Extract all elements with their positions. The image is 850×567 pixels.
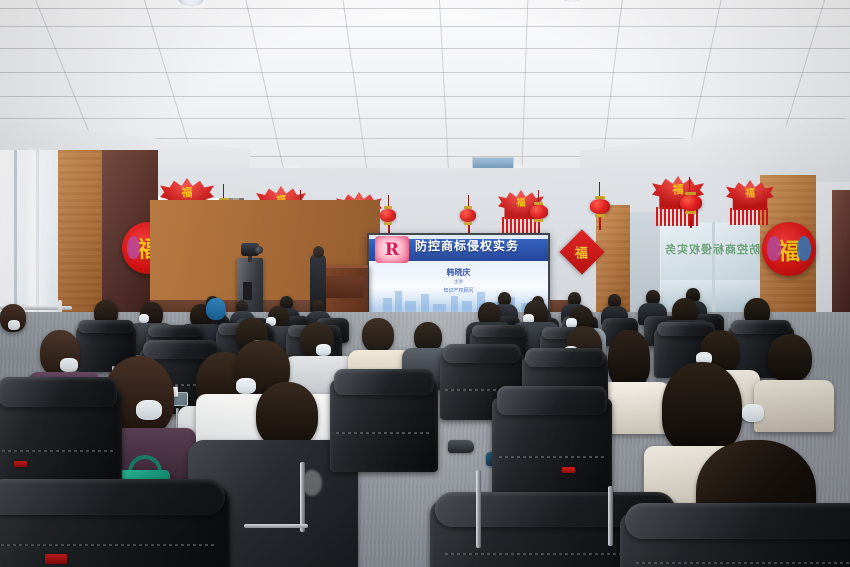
presenter-head — [313, 246, 324, 258]
jacket-logo — [302, 470, 322, 496]
attendee-head-front — [256, 382, 318, 448]
attendee-head — [362, 318, 394, 352]
fu-glyph: 福 — [673, 181, 684, 197]
face-mask — [236, 378, 256, 394]
projection-screen: R 防控商标侵权实务 韩晓庆 主讲 知识产权顾问 — [367, 233, 550, 323]
face-mask — [742, 404, 764, 422]
conference-room-photo: 防控商标侵权实务 福 福 福 福 福 福 — [0, 0, 850, 567]
attendee-head — [768, 334, 812, 382]
shoe — [448, 440, 474, 453]
chair-foreground — [492, 398, 612, 502]
fu-glyph: 福 — [745, 185, 755, 200]
glass-mullion — [712, 222, 715, 322]
slide-title: 防控商标侵权实务 — [415, 235, 546, 257]
attendee-head-ponytail — [608, 330, 650, 388]
lectern-front-panel — [326, 276, 364, 298]
chair-foreground-bottom-left — [0, 486, 230, 567]
slide-presenter: 韩晓庆 — [369, 267, 548, 278]
face-mask — [60, 358, 78, 372]
chair-foreground — [330, 380, 438, 472]
trademark-r-icon: R — [375, 236, 409, 263]
fu-glyph: 福 — [516, 195, 525, 208]
speaker-grill — [243, 282, 252, 300]
glass-reversed-text: 防控商标侵权实务 — [668, 241, 760, 259]
face-mask — [316, 344, 331, 356]
chair-foreground-bottom-right — [620, 512, 850, 567]
slide-subtitle-1: 主讲 — [369, 279, 548, 285]
face-mask — [139, 314, 149, 323]
downlight-icon — [560, 0, 584, 2]
attendee-head-cap — [206, 298, 226, 320]
face-mask — [8, 320, 20, 330]
fu-glyph: 福 — [182, 184, 193, 200]
fu-glyph: 福 — [575, 242, 588, 261]
downlight-icon — [178, 0, 204, 6]
camera-lens-icon — [255, 246, 263, 254]
attendee-body — [754, 380, 834, 432]
face-mask — [136, 400, 162, 420]
fu-medallion-right: 福 — [762, 222, 816, 276]
